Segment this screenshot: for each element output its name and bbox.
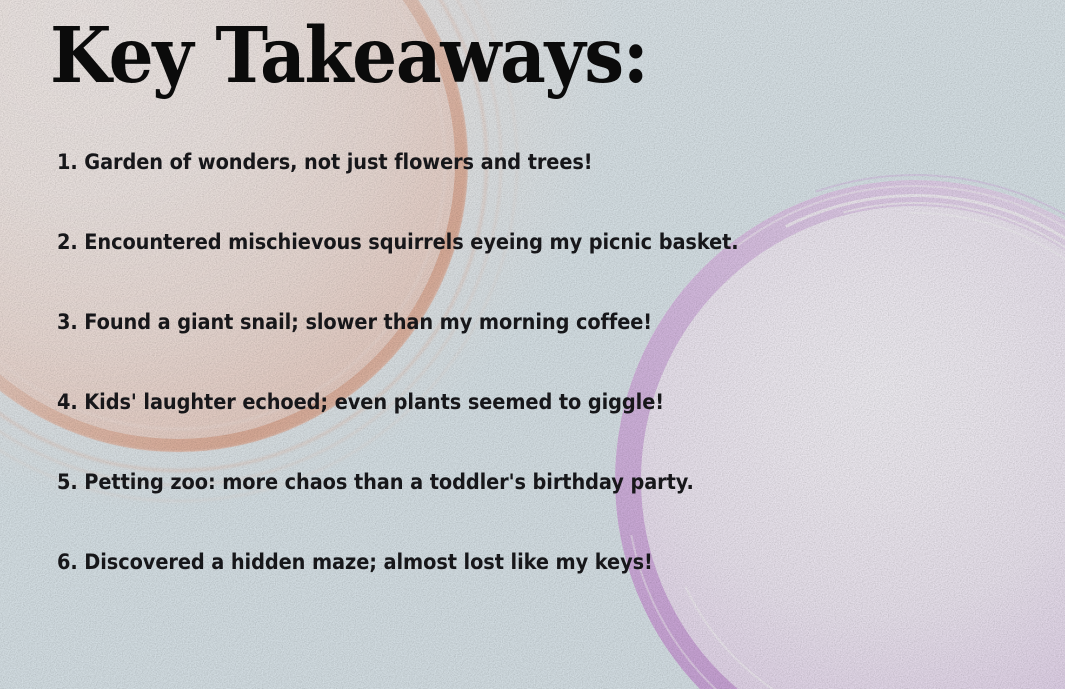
list-item: 5. Petting zoo: more chaos than a toddle… (57, 472, 921, 552)
poster-canvas: Key Takeaways: 1. Garden of wonders, not… (0, 0, 1065, 689)
list-item: 4. Kids' laughter echoed; even plants se… (57, 392, 921, 472)
list-item: 6. Discovered a hidden maze; almost lost… (57, 552, 921, 632)
takeaways-list: 1. Garden of wonders, not just flowers a… (57, 152, 1017, 632)
list-item: 1. Garden of wonders, not just flowers a… (57, 152, 921, 232)
poster-content: Key Takeaways: 1. Garden of wonders, not… (0, 0, 1065, 689)
page-title: Key Takeaways: (50, 18, 648, 95)
list-item: 2. Encountered mischievous squirrels eye… (57, 232, 921, 312)
list-item: 3. Found a giant snail; slower than my m… (57, 312, 921, 392)
